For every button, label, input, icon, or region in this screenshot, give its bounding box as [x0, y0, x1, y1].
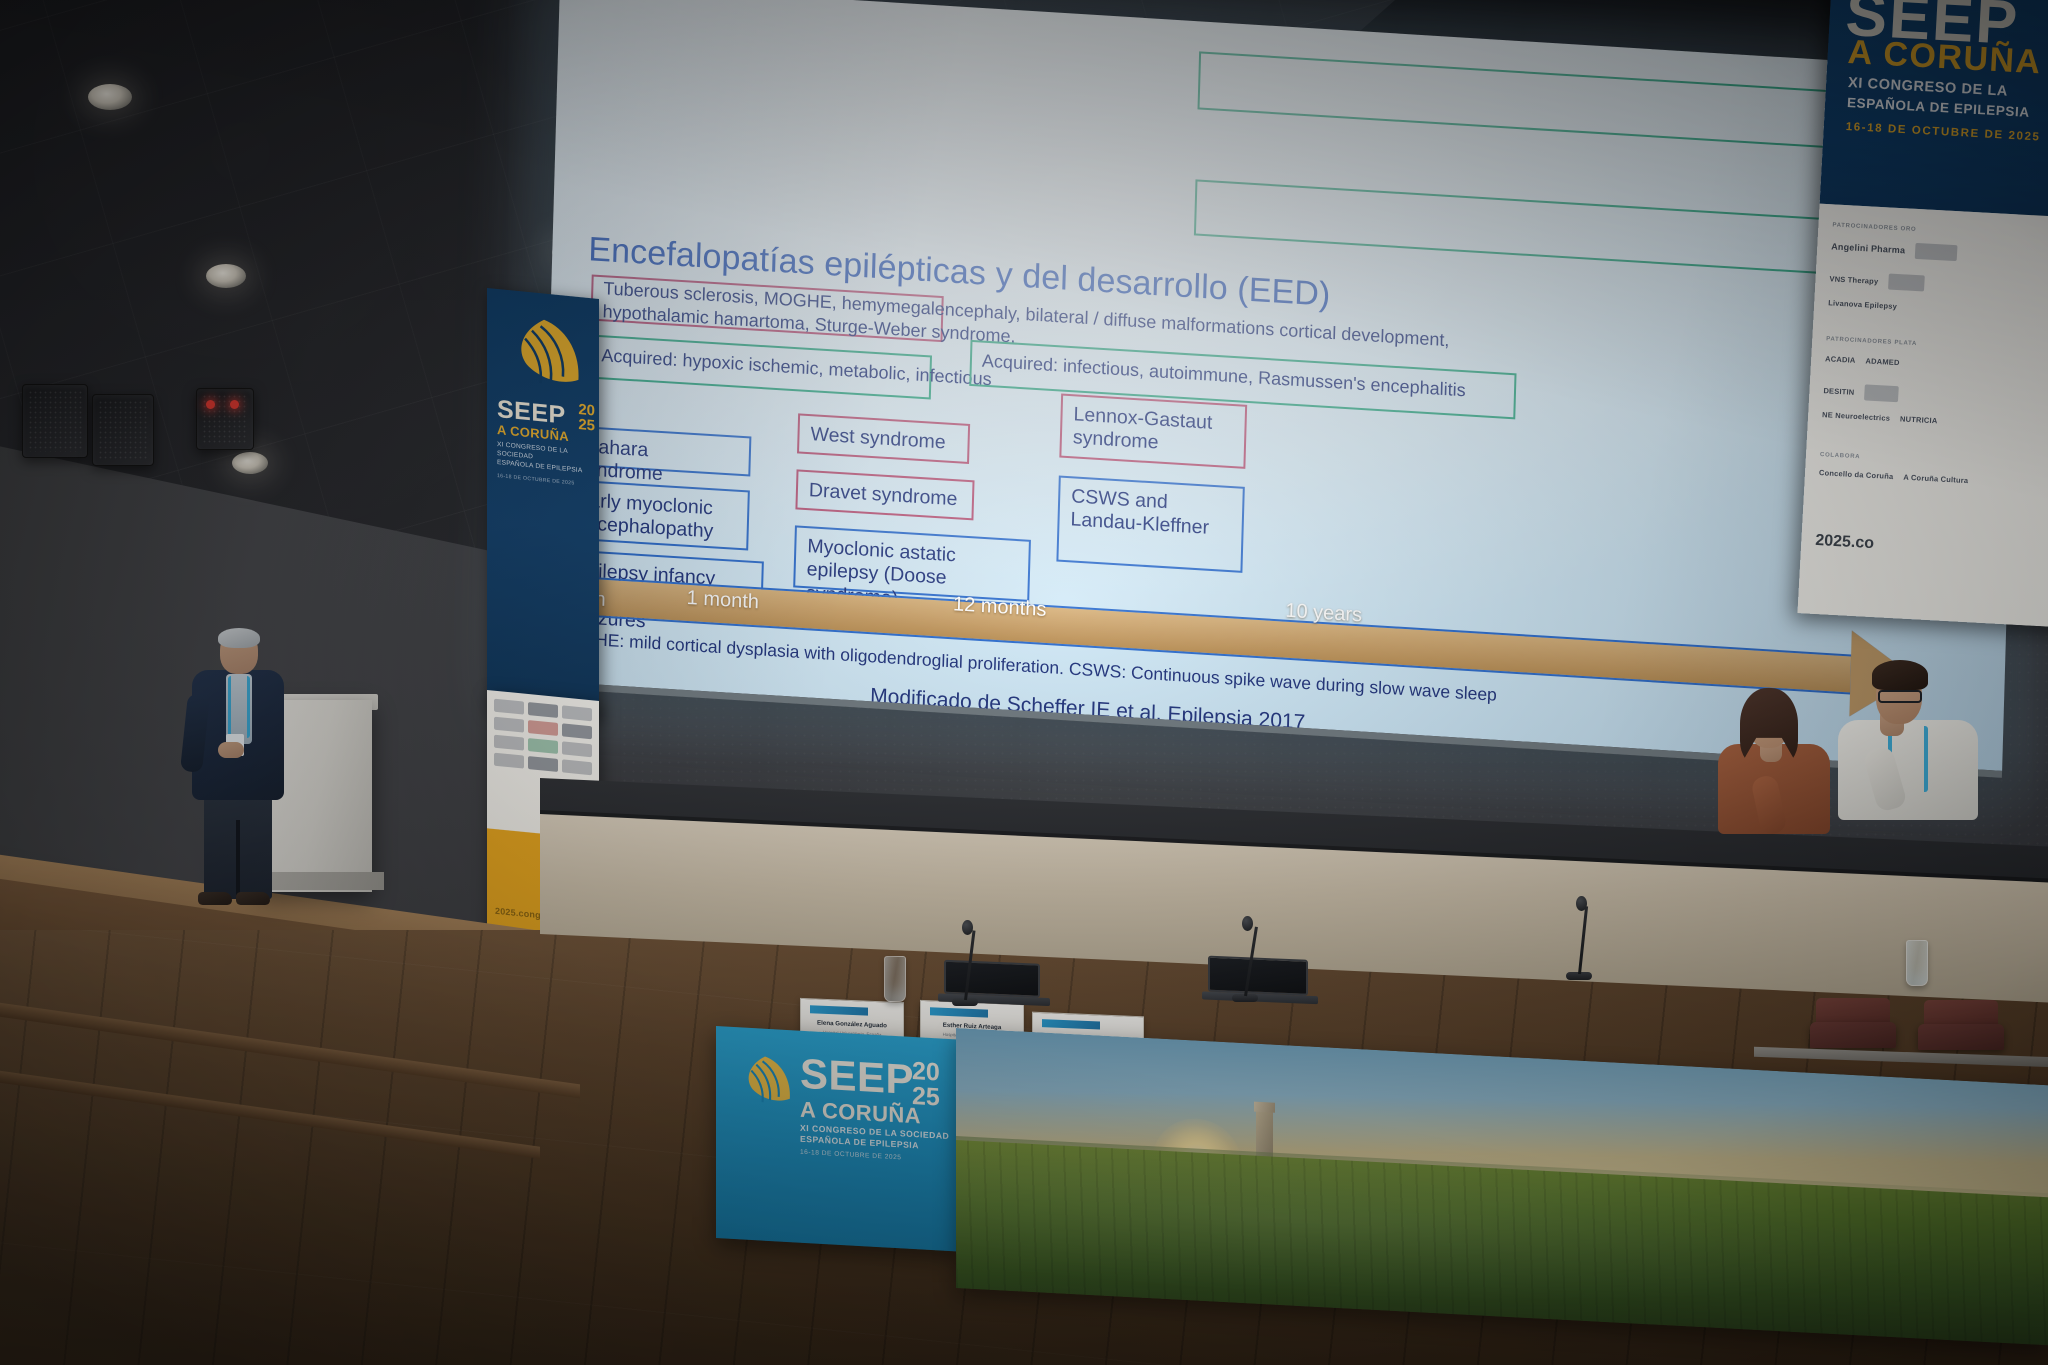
sponsor-name-eisai: Angelini Pharma — [1831, 241, 1905, 255]
sponsor-logo-chip — [1888, 274, 1925, 292]
syndrome-box-west: West syndrome — [797, 413, 970, 464]
auditorium-seat — [1810, 1022, 1896, 1048]
sponsor-name-livanova: Livanova Epilepsy — [1828, 298, 1897, 311]
speaker-grille — [98, 400, 148, 460]
conference-hall-scene: Encefalopatías epilépticas y del desarro… — [0, 0, 2048, 1365]
sponsor-logo-chip — [494, 753, 524, 769]
front-banner-shell-icon — [734, 1049, 796, 1118]
wall-speaker — [196, 388, 254, 450]
left-banner-year: 20 25 — [578, 402, 595, 434]
laptop-screen — [1208, 956, 1308, 996]
nameplate-accent-bar — [1042, 1019, 1100, 1029]
etiology-pointer-box-lower — [1194, 179, 1892, 278]
syndrome-label-csws: CSWS and Landau-Kleffner — [1070, 485, 1209, 539]
sponsor-logo-chip — [562, 741, 592, 757]
sponsor-logo-chip — [562, 723, 592, 739]
sponsor-logo-chip — [494, 699, 524, 715]
sponsor-name-desitin: DESITIN — [1823, 386, 1854, 397]
microphone-head — [1576, 896, 1587, 911]
speaker-grille — [28, 390, 82, 452]
wall-speaker — [22, 384, 88, 458]
presenter-shoe-right — [236, 892, 270, 905]
sponsor-logo-chip — [1915, 243, 1958, 261]
front-banner-dates: 16-18 DE OCTUBRE DE 2025 — [800, 1149, 901, 1162]
sponsor-name-concello: Concello da Coruña — [1819, 468, 1894, 481]
status-indicator-light — [230, 400, 239, 409]
poster-sponsor-panel: PATROCINADORES ORO Angelini Pharma VNS T… — [1797, 204, 2048, 630]
poster-collab-row: Concello da Coruña A Coruña Cultura — [1819, 468, 1969, 485]
ceiling-downlight — [232, 452, 268, 474]
presenter-speaker — [178, 630, 298, 915]
sponsor-name-acadia: ACADIA — [1825, 354, 1856, 365]
presenter-hair — [218, 628, 260, 648]
sponsor-logo-chip — [494, 717, 524, 733]
presentation-slide: Encefalopatías epilépticas y del desarro… — [540, 0, 2022, 771]
slide-credit: Modificado de Scheffer IE et al, Epileps… — [870, 684, 1306, 735]
presenter-shoe-left — [198, 892, 232, 905]
syndrome-box-dravet: Dravet syndrome — [795, 469, 974, 520]
water-glass — [884, 956, 906, 1002]
syndrome-box-lennox-gastaut: Lennox-Gastaut syndrome — [1059, 393, 1247, 468]
front-banner-seep-word: SEEP — [800, 1055, 914, 1100]
left-banner-year-bottom: 25 — [578, 417, 595, 434]
syndrome-box-csws: CSWS and Landau-Kleffner — [1056, 475, 1244, 572]
wall-speaker — [92, 394, 154, 466]
poster-header: SEEP A CORUÑA XI CONGRESO DE LA ESPAÑOLA… — [1820, 0, 2048, 220]
left-banner-wordmark: SEEP 20 25 A CORUÑA XI CONGRESO DE LA SO… — [497, 397, 593, 488]
syndrome-box-doose: Myoclonic astatic epilepsy (Doose syndro… — [793, 525, 1031, 602]
panelist-man-hair — [1872, 660, 1928, 690]
poster-gold-row-3: Livanova Epilepsy — [1828, 298, 1897, 311]
sponsor-name-vns: VNS Therapy — [1829, 274, 1878, 286]
poster-silver-row-3: NE Neuroelectrics NUTRICIA — [1822, 410, 1938, 425]
sponsor-logo-chip — [528, 720, 558, 736]
nameplate-name: Elena González Aguado — [801, 1019, 903, 1030]
laptop-right — [1208, 956, 1322, 1009]
syndrome-label-lennox-gastaut: Lennox-Gastaut syndrome — [1073, 403, 1213, 454]
microphone-head — [1242, 916, 1253, 931]
front-banner-wordmark: SEEP — [800, 1055, 914, 1100]
timeline-tick-10-years: 10 years — [1285, 600, 1362, 628]
laptop-screen — [944, 960, 1040, 998]
sponsor-logo-chip — [528, 738, 558, 754]
seep-shell-logo-icon — [501, 307, 587, 407]
syndrome-label-dravet: Dravet syndrome — [809, 479, 958, 510]
water-glass — [1906, 940, 1928, 986]
sponsor-name-nutricia: NUTRICIA — [1900, 414, 1938, 425]
sponsor-logo-chip — [1864, 384, 1899, 402]
poster-section-collab: COLABORA — [1820, 452, 1861, 460]
sponsor-logo-chip — [528, 702, 558, 718]
poster-section-silver: PATROCINADORES PLATA — [1826, 336, 1917, 347]
left-congress-banner-top: SEEP 20 25 A CORUÑA XI CONGRESO DE LA SO… — [487, 288, 599, 719]
presenter-lanyard — [228, 676, 250, 738]
projection-screen: Encefalopatías epilépticas y del desarro… — [540, 0, 2022, 778]
status-indicator-light — [206, 400, 215, 409]
front-lectern-banner: SEEP 20 25 A CORUÑA XI CONGRESO DE LA SO… — [716, 1026, 960, 1252]
poster-dates: 16-18 DE OCTUBRE DE 2025 — [1845, 121, 2040, 144]
timeline-tick-1-month: 1 month — [686, 587, 759, 614]
panelist-man-eyeglasses — [1878, 690, 1922, 703]
sponsor-name-cultura: A Coruña Cultura — [1903, 473, 1968, 486]
poster-url: 2025.co — [1815, 532, 1875, 553]
presenter-leg-gap — [236, 820, 240, 898]
microphone-head — [962, 920, 973, 935]
poster-gold-row-1: Angelini Pharma — [1831, 238, 1958, 261]
ceiling-downlight — [88, 84, 132, 110]
presenter-hands — [218, 742, 244, 758]
poster-silver-row-1: ACADIA ADAMED — [1825, 354, 1900, 367]
auditorium-seat — [1918, 1024, 2004, 1050]
poster-silver-row-2: DESITIN — [1823, 382, 1899, 402]
photo-tower-top — [1254, 1102, 1275, 1113]
panelist-man — [1836, 656, 2016, 806]
poster-gold-row-2: VNS Therapy — [1829, 270, 1925, 291]
sponsor-logo-chip — [494, 735, 524, 751]
poster-section-gold: PATROCINADORES ORO — [1832, 222, 1916, 233]
sponsor-name-adamed: ADAMED — [1865, 356, 1900, 367]
nameplate-accent-bar — [810, 1005, 868, 1015]
ceiling-downlight — [206, 264, 246, 288]
right-congress-poster: SEEP A CORUÑA XI CONGRESO DE LA ESPAÑOLA… — [1797, 0, 2048, 629]
sponsor-name-ne: NE Neuroelectrics — [1822, 410, 1890, 423]
sponsor-logo-chip — [562, 705, 592, 721]
nameplate-accent-bar — [930, 1007, 988, 1017]
syndrome-label-west: West syndrome — [810, 423, 946, 453]
etiology-pointer-box-upper — [1197, 51, 1899, 152]
